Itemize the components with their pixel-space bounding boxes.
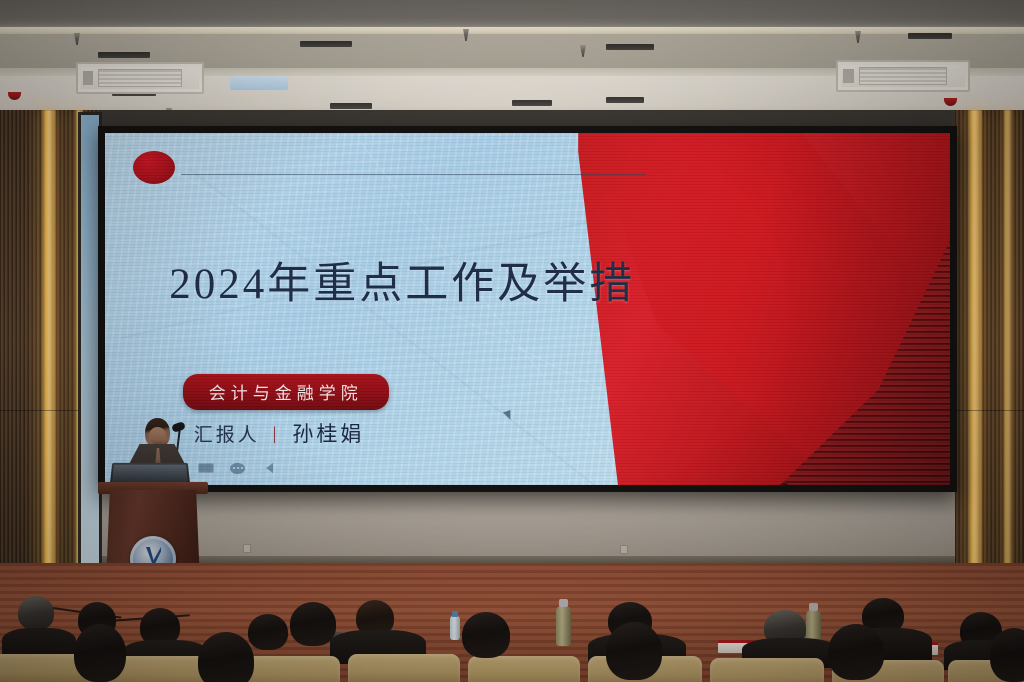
wood-panel-seam xyxy=(955,410,1024,411)
ceiling-vent-icon xyxy=(330,103,372,109)
wall-outlet xyxy=(620,545,628,554)
accent-light-strip-left xyxy=(40,110,56,622)
ac-side-slot xyxy=(83,71,93,84)
audience-head xyxy=(18,596,54,630)
ceiling-vent-icon xyxy=(300,41,352,47)
presenter-label: 汇报人 xyxy=(194,420,260,447)
audience-head-front xyxy=(462,612,510,658)
auditorium-seat xyxy=(348,654,460,682)
audience-head-front xyxy=(74,624,126,682)
presentation-controls-toolbar[interactable] xyxy=(198,462,278,474)
ac-light-panel xyxy=(230,76,288,90)
ac-grille xyxy=(98,69,182,87)
thermos-flask xyxy=(556,606,571,646)
red-dot-logo-icon xyxy=(133,151,175,184)
led-display-bezel: 2024年重点工作及举措 会计与金融学院 汇报人 | 孙桂娟 xyxy=(98,126,957,492)
audience-head-front xyxy=(290,602,336,646)
ceiling-vent-icon xyxy=(98,52,150,58)
presentation-slide[interactable]: 2024年重点工作及举措 会计与金融学院 汇报人 | 孙桂娟 xyxy=(105,133,950,485)
auditorium-seat xyxy=(468,656,580,682)
previous-slide-icon[interactable] xyxy=(262,462,278,474)
audience-head-front xyxy=(828,624,884,680)
slide-title: 2024年重点工作及举措 xyxy=(169,249,635,311)
air-conditioner-cassette xyxy=(76,62,204,94)
speaker-face xyxy=(149,427,166,444)
accent-light-strip-right xyxy=(966,110,982,622)
auditorium-scene: 2024年重点工作及举措 会计与金融学院 汇报人 | 孙桂娟 xyxy=(0,0,1024,682)
accent-light-strip-right xyxy=(1002,110,1012,622)
ceiling-vent-icon xyxy=(606,44,654,50)
audience-head xyxy=(248,614,288,650)
presenter-separator: | xyxy=(273,423,280,444)
presenter-name: 孙桂娟 xyxy=(292,418,364,448)
audience-head-front xyxy=(198,632,254,682)
water-bottle xyxy=(450,616,460,640)
laptop-screen xyxy=(112,465,188,483)
ceiling-vent-icon xyxy=(908,33,952,39)
wall-outlet xyxy=(243,544,251,553)
air-conditioner-cassette xyxy=(836,60,970,92)
ceiling-vent-icon xyxy=(606,97,644,103)
department-badge: 会计与金融学院 xyxy=(183,374,389,410)
auditorium-seat xyxy=(710,658,824,682)
audience-head-front xyxy=(990,628,1024,682)
ceiling-upper-slab xyxy=(0,0,1024,30)
ac-side-slot xyxy=(843,69,853,82)
more-options-icon[interactable] xyxy=(230,462,246,474)
audience-head-front xyxy=(606,622,662,680)
pen-annotation-icon[interactable] xyxy=(198,462,214,474)
ceiling-vent-icon xyxy=(512,100,552,106)
wall-below-screen xyxy=(100,490,955,563)
slide-hairline-rule xyxy=(181,174,646,175)
presenter-line: 汇报人 | 孙桂娟 xyxy=(194,418,365,448)
ac-grille xyxy=(859,67,947,85)
audience-area xyxy=(0,588,1024,682)
